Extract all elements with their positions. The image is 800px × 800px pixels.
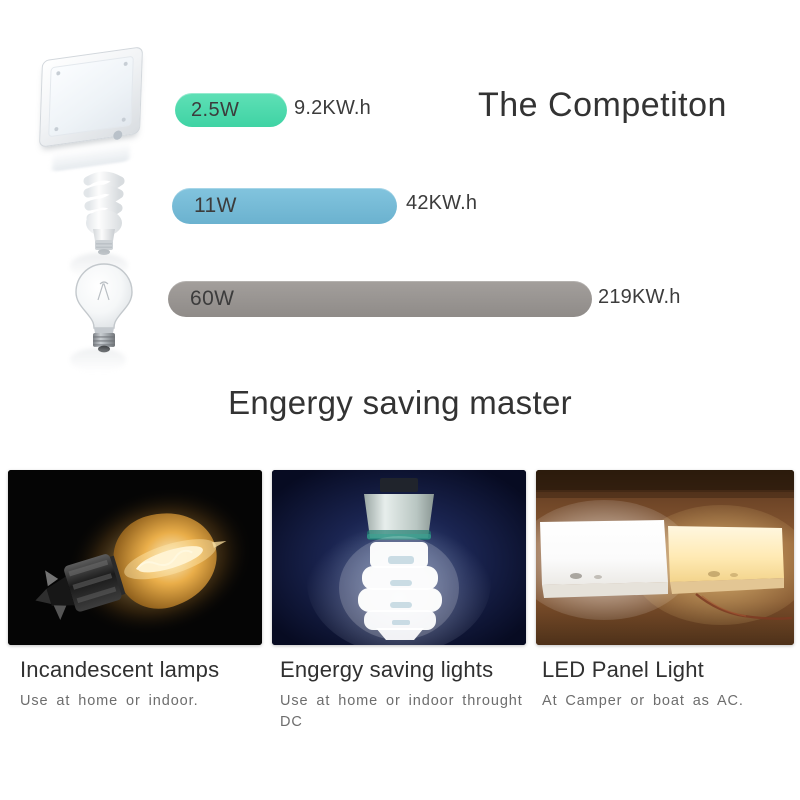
incandescent-bulb-reflection <box>70 348 126 372</box>
card-title-led-panel: LED Panel Light <box>542 658 794 682</box>
section-heading-energy-saving-master: Engergy saving master <box>0 384 800 422</box>
glowing-incandescent-bulb-photo <box>8 470 262 645</box>
chart-row-cfl <box>0 155 800 260</box>
bar-led-panel: 2.5W <box>175 93 287 127</box>
incandescent-bulb-icon <box>62 258 146 354</box>
card-subtitle-incandescent: Use at home or indoor. <box>20 691 262 712</box>
product-card-led-panel: LED Panel Light At Camper or boat as AC. <box>536 470 794 712</box>
led-panels-photo <box>536 470 794 645</box>
bar-power-label-cfl: 11W <box>172 194 237 218</box>
infographic-stage: 2.5W 9.2KW.h 11W 42KW.h 60W 219KW.h The … <box>0 0 800 800</box>
product-card-cfl: Engergy saving lights Use at home or ind… <box>272 470 526 733</box>
card-title-incandescent: Incandescent lamps <box>20 658 262 682</box>
product-cards: Incandescent lamps Use at home or indoor… <box>0 470 800 800</box>
card-subtitle-led-panel: At Camper or boat as AC. <box>542 691 794 712</box>
bar-consumption-label-cfl: 42KW.h <box>406 192 477 215</box>
led-panel-icon <box>39 46 143 147</box>
bar-power-label-led: 2.5W <box>175 99 239 122</box>
bar-power-label-incandescent: 60W <box>168 287 234 311</box>
chart-title: The Competiton <box>478 86 727 125</box>
glowing-cfl-bulb-photo <box>272 470 526 645</box>
bar-consumption-label-led: 9.2KW.h <box>294 97 371 120</box>
product-card-incandescent: Incandescent lamps Use at home or indoor… <box>8 470 262 712</box>
card-title-cfl: Engergy saving lights <box>280 658 526 682</box>
bar-cfl: 11W <box>172 188 397 224</box>
energy-comparison-chart: 2.5W 9.2KW.h 11W 42KW.h 60W 219KW.h The … <box>0 0 800 360</box>
bar-consumption-label-incandescent: 219KW.h <box>598 286 681 309</box>
bar-incandescent: 60W <box>168 281 592 317</box>
card-subtitle-cfl: Use at home or indoor throught DC <box>280 691 526 733</box>
cfl-bulb-icon <box>62 163 146 259</box>
